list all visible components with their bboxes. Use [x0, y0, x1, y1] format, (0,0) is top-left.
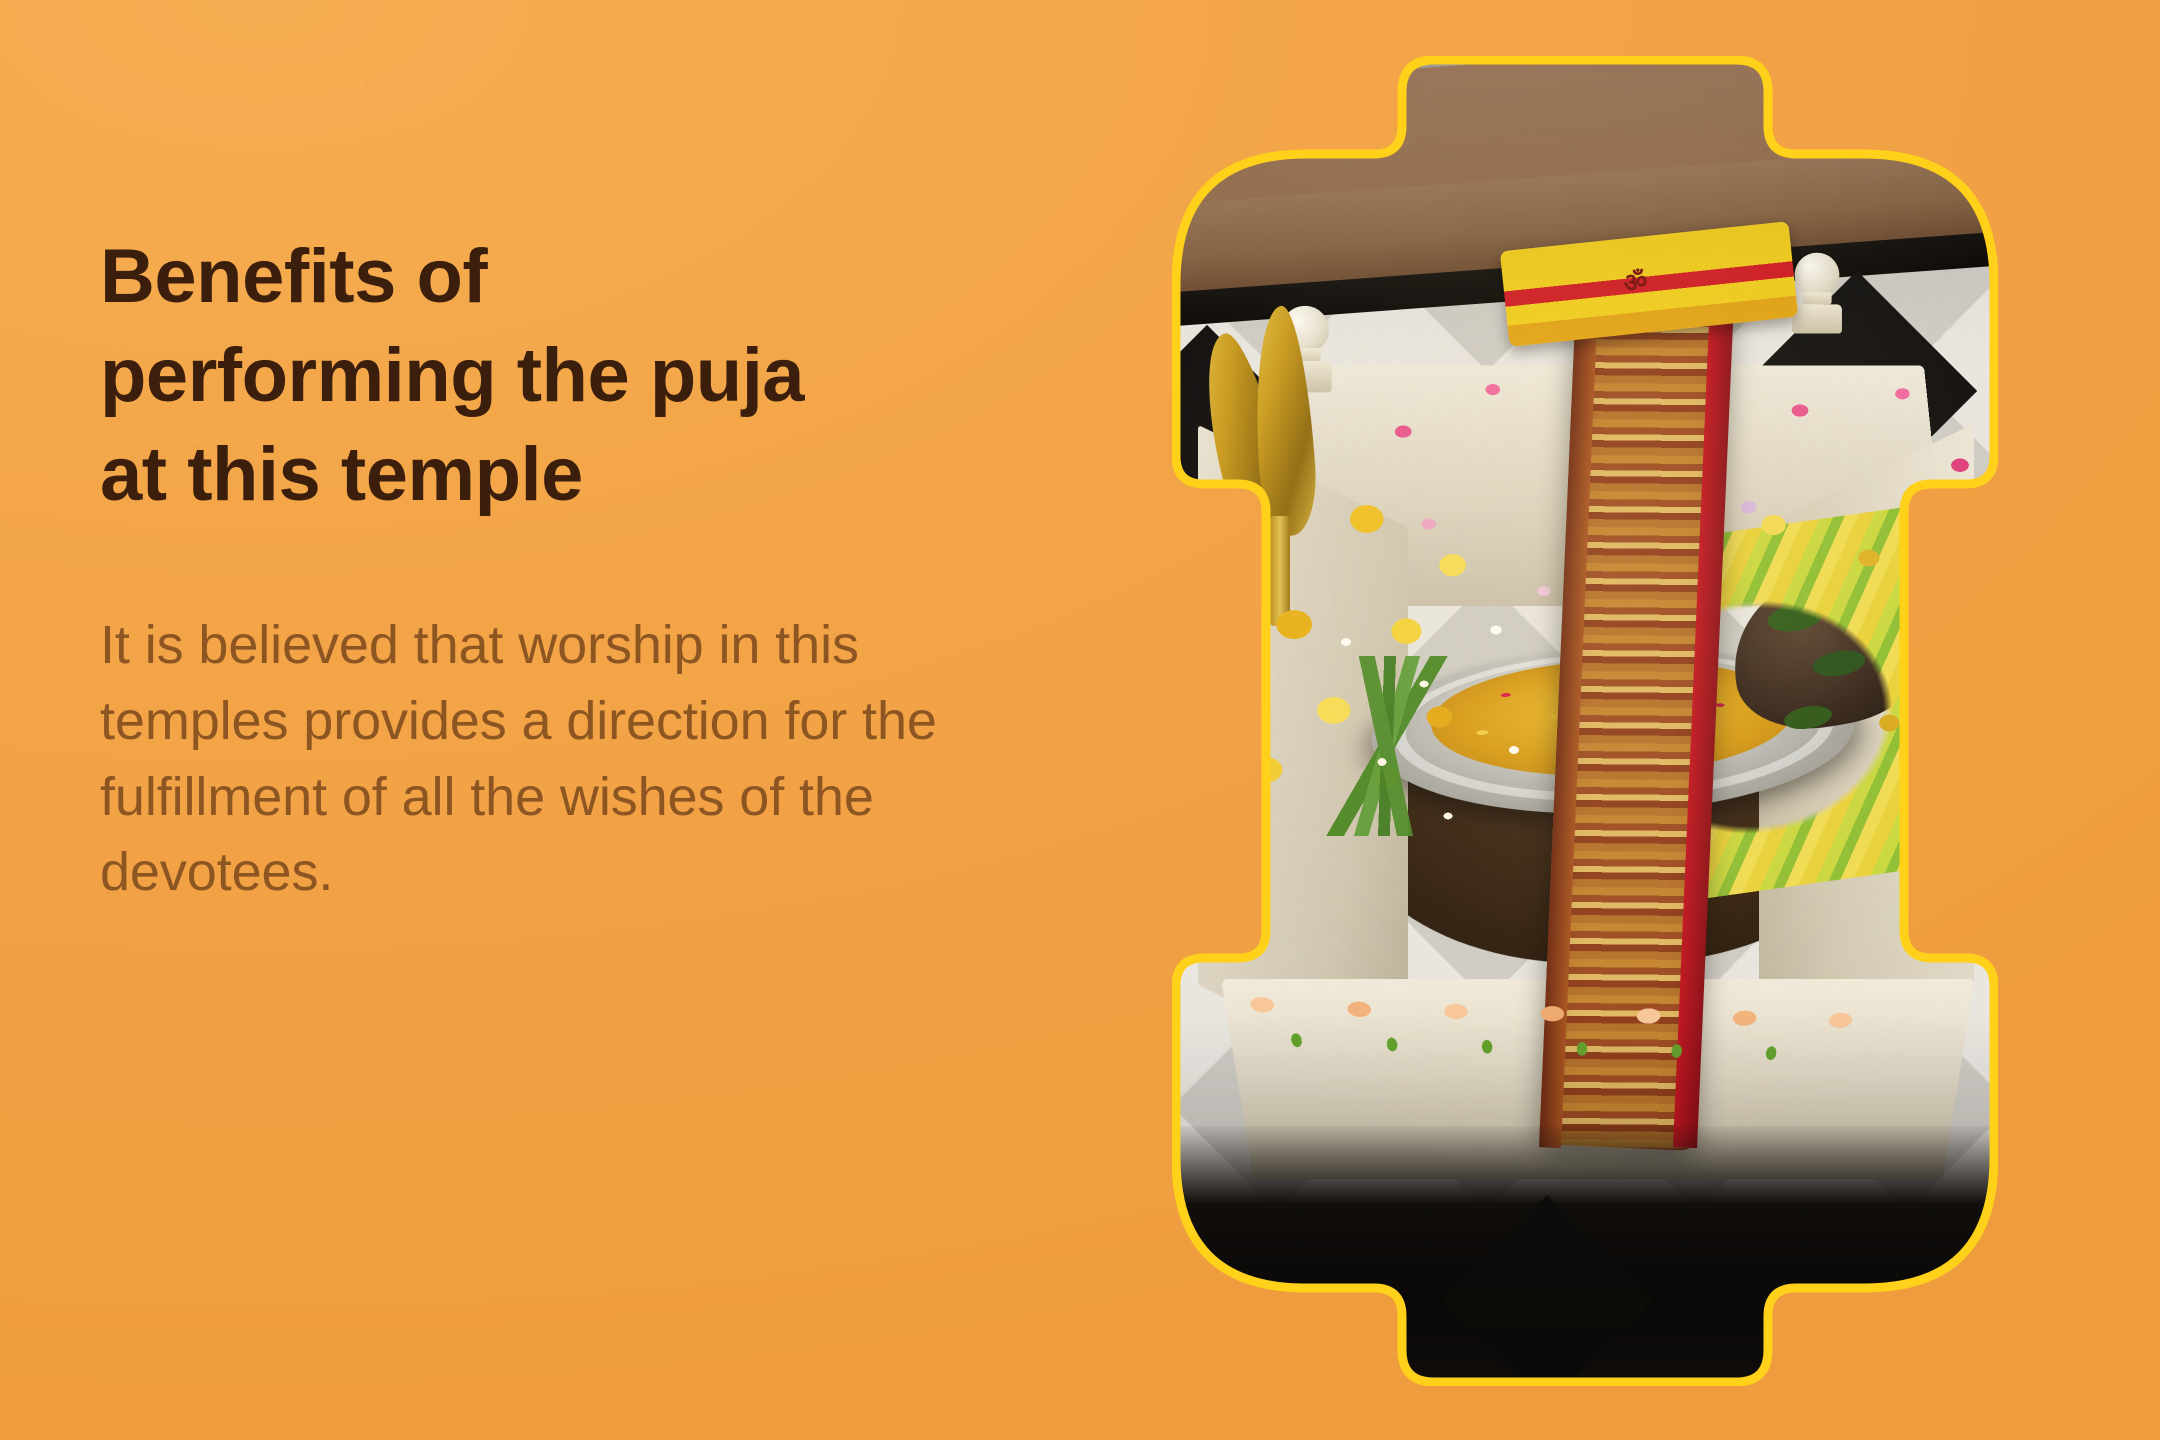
marble-finial — [1180, 754, 1249, 855]
text-column: Benefits of performing the puja at this … — [100, 228, 1030, 911]
temple-photo-card: ॐ — [1172, 56, 1998, 1386]
temple-shrine-photo: ॐ — [1172, 56, 1998, 1386]
poster-canvas: Benefits of performing the puja at this … — [0, 0, 2160, 1440]
body-paragraph: It is believed that worship in this temp… — [100, 608, 1030, 910]
page-title: Benefits of performing the puja at this … — [100, 228, 1030, 524]
